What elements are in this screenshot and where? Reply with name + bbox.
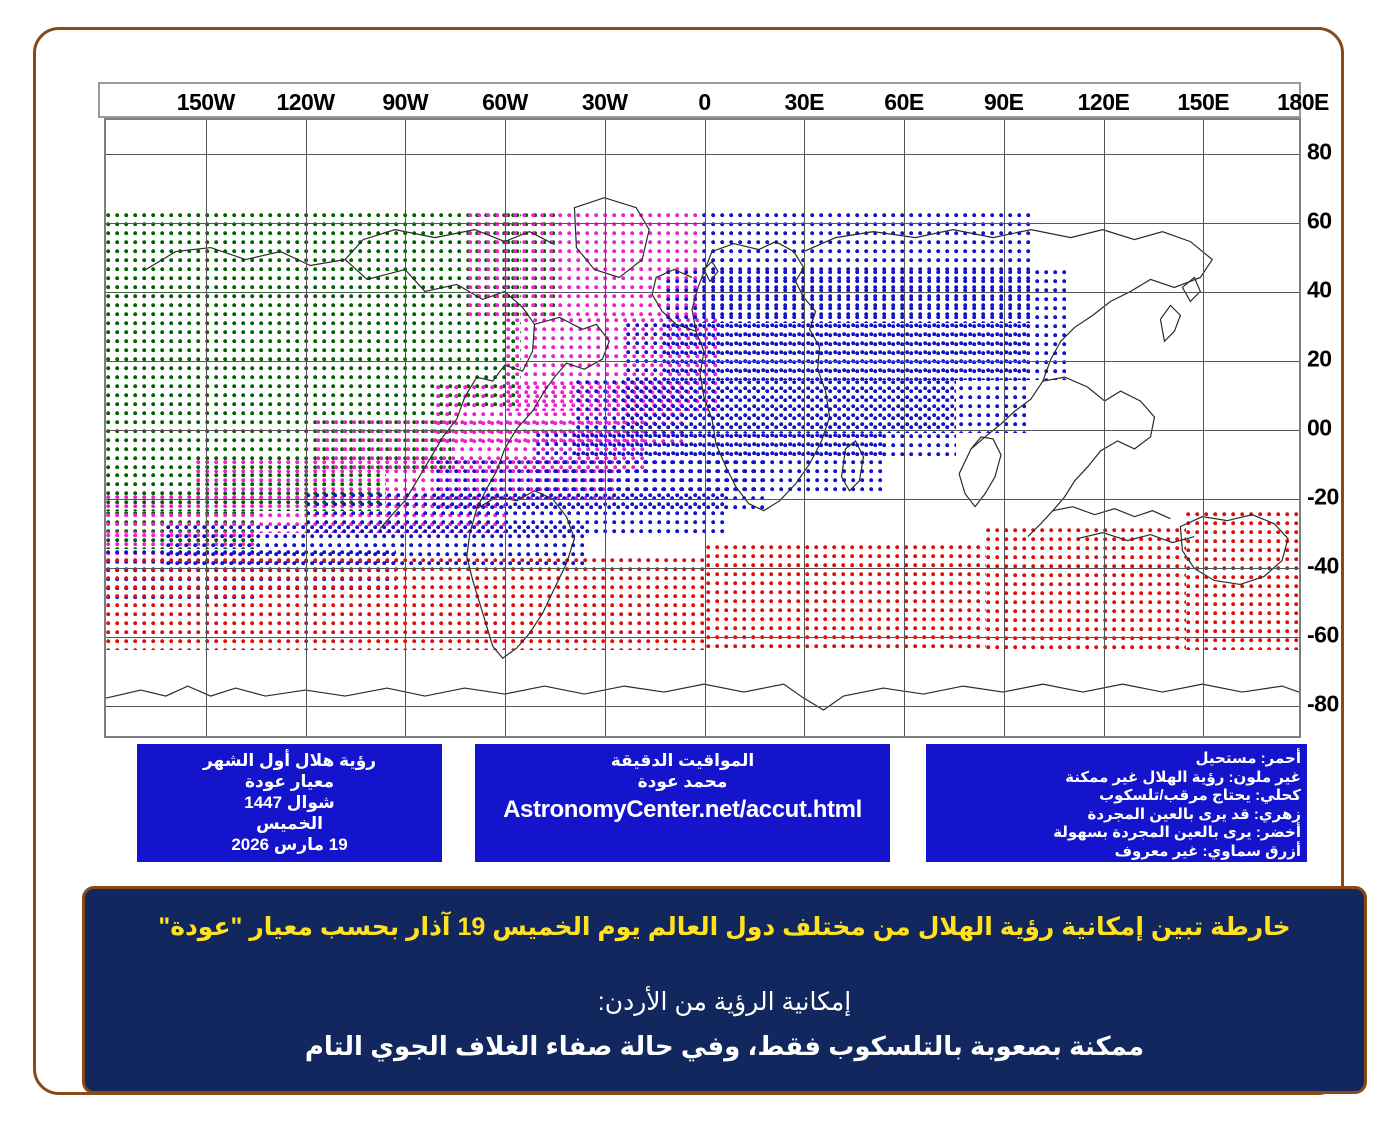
grid-line-vertical [206,120,207,736]
legend-left-line1: رؤية هلال أول الشهر [145,750,434,771]
coastlines [106,120,1299,738]
grid-line-vertical [405,120,406,736]
grid-line-horizontal [106,361,1299,362]
outer-frame: 150W120W90W60W30W030E60E90E120E150E180E … [33,27,1344,1095]
longitude-tick-label: 60E [884,89,923,116]
longitude-tick-label: 30W [582,89,628,116]
caption-subtitle: إمكانية الرؤية من الأردن: [109,985,1340,1020]
longitude-tick-label: 60W [482,89,528,116]
legend-left-line3: شوال 1447 [145,792,434,813]
longitude-tick-label: 90W [382,89,428,116]
latitude-tick-label: 40 [1307,277,1332,304]
grid-line-horizontal [106,499,1299,500]
screenshot-root: 150W120W90W60W30W030E60E90E120E150E180E … [0,0,1381,1123]
visibility-map: 150W120W90W60W30W030E60E90E120E150E180E … [98,82,1301,860]
grid-line-horizontal [106,637,1299,638]
grid-line-vertical [705,120,706,736]
longitude-tick-label: 180E [1277,89,1329,116]
legend-key-impossible: أحمر: مستحيل [934,750,1301,769]
grid-line-horizontal [106,292,1299,293]
grid-line-horizontal [106,430,1299,431]
legend-key-not-possible: غير ملون: رؤية الهلال غير ممكنة [934,769,1301,788]
latitude-tick-label: 20 [1307,346,1332,373]
longitude-tick-label: 120E [1078,89,1130,116]
grid-line-vertical [1203,120,1204,736]
caption-panel: خارطة تبين إمكانية رؤية الهلال من مختلف … [82,886,1367,1094]
latitude-tick-label: -40 [1307,552,1339,579]
legend-mid-line1: المواقيت الدقيقة [483,750,882,771]
caption-title: خارطة تبين إمكانية رؤية الهلال من مختلف … [109,911,1340,945]
longitude-tick-label: 0 [698,89,710,116]
legend-mid-line2: محمد عودة [483,771,882,792]
grid-line-vertical [505,120,506,736]
legend-left-line4: الخميس [145,813,434,834]
grid-line-vertical [904,120,905,736]
legend-left-line5: 19 مارس 2026 [145,834,434,855]
longitude-tick-label: 150W [177,89,235,116]
grid-line-horizontal [106,223,1299,224]
legend-website-link[interactable]: AstronomyCenter.net/accut.html [483,795,882,825]
longitude-axis: 150W120W90W60W30W030E60E90E120E150E180E [98,82,1301,118]
latitude-tick-label: 60 [1307,208,1332,235]
latitude-tick-label: 00 [1307,415,1332,442]
latitude-tick-label: -80 [1307,690,1339,717]
legend-key-needs-telescope: كحلي: يحتاج مرقب/تلسكوب [934,787,1301,806]
grid-line-horizontal [106,154,1299,155]
map-canvas [106,120,1299,736]
latitude-axis: 8060402000-20-40-60-80 [1301,118,1363,738]
grid-line-vertical [1004,120,1005,736]
grid-line-vertical [306,120,307,736]
caption-verdict: ممكنة بصعوبة بالتلسكوب فقط، وفي حالة صفا… [109,1028,1340,1064]
longitude-tick-label: 90E [984,89,1023,116]
latitude-tick-label: -60 [1307,621,1339,648]
grid-line-vertical [605,120,606,736]
legend-row: رؤية هلال أول الشهر معيار عودة شوال 1447… [104,744,1307,866]
grid-line-horizontal [106,568,1299,569]
legend-left-line2: معيار عودة [145,771,434,792]
legend-key-maybe-naked-eye: زهري: قد يرى بالعين المجردة [934,806,1301,825]
grid-line-vertical [1104,120,1105,736]
longitude-tick-label: 150E [1177,89,1229,116]
legend-key-easy-naked-eye: أخضر: يرى بالعين المجردة بسهولة [934,824,1301,843]
latitude-tick-label: 80 [1307,139,1332,166]
grid-line-horizontal [106,706,1299,707]
longitude-tick-label: 30E [785,89,824,116]
legend-box-credit: المواقيت الدقيقة محمد عودة AstronomyCent… [475,744,890,862]
grid-line-vertical [804,120,805,736]
legend-box-title: رؤية هلال أول الشهر معيار عودة شوال 1447… [137,744,442,862]
latitude-tick-label: -20 [1307,483,1339,510]
legend-key-unknown: أزرق سماوي: غير معروف [934,843,1301,862]
legend-box-colour-key: أحمر: مستحيل غير ملون: رؤية الهلال غير م… [926,744,1307,862]
longitude-tick-label: 120W [276,89,334,116]
map-frame [104,118,1301,738]
